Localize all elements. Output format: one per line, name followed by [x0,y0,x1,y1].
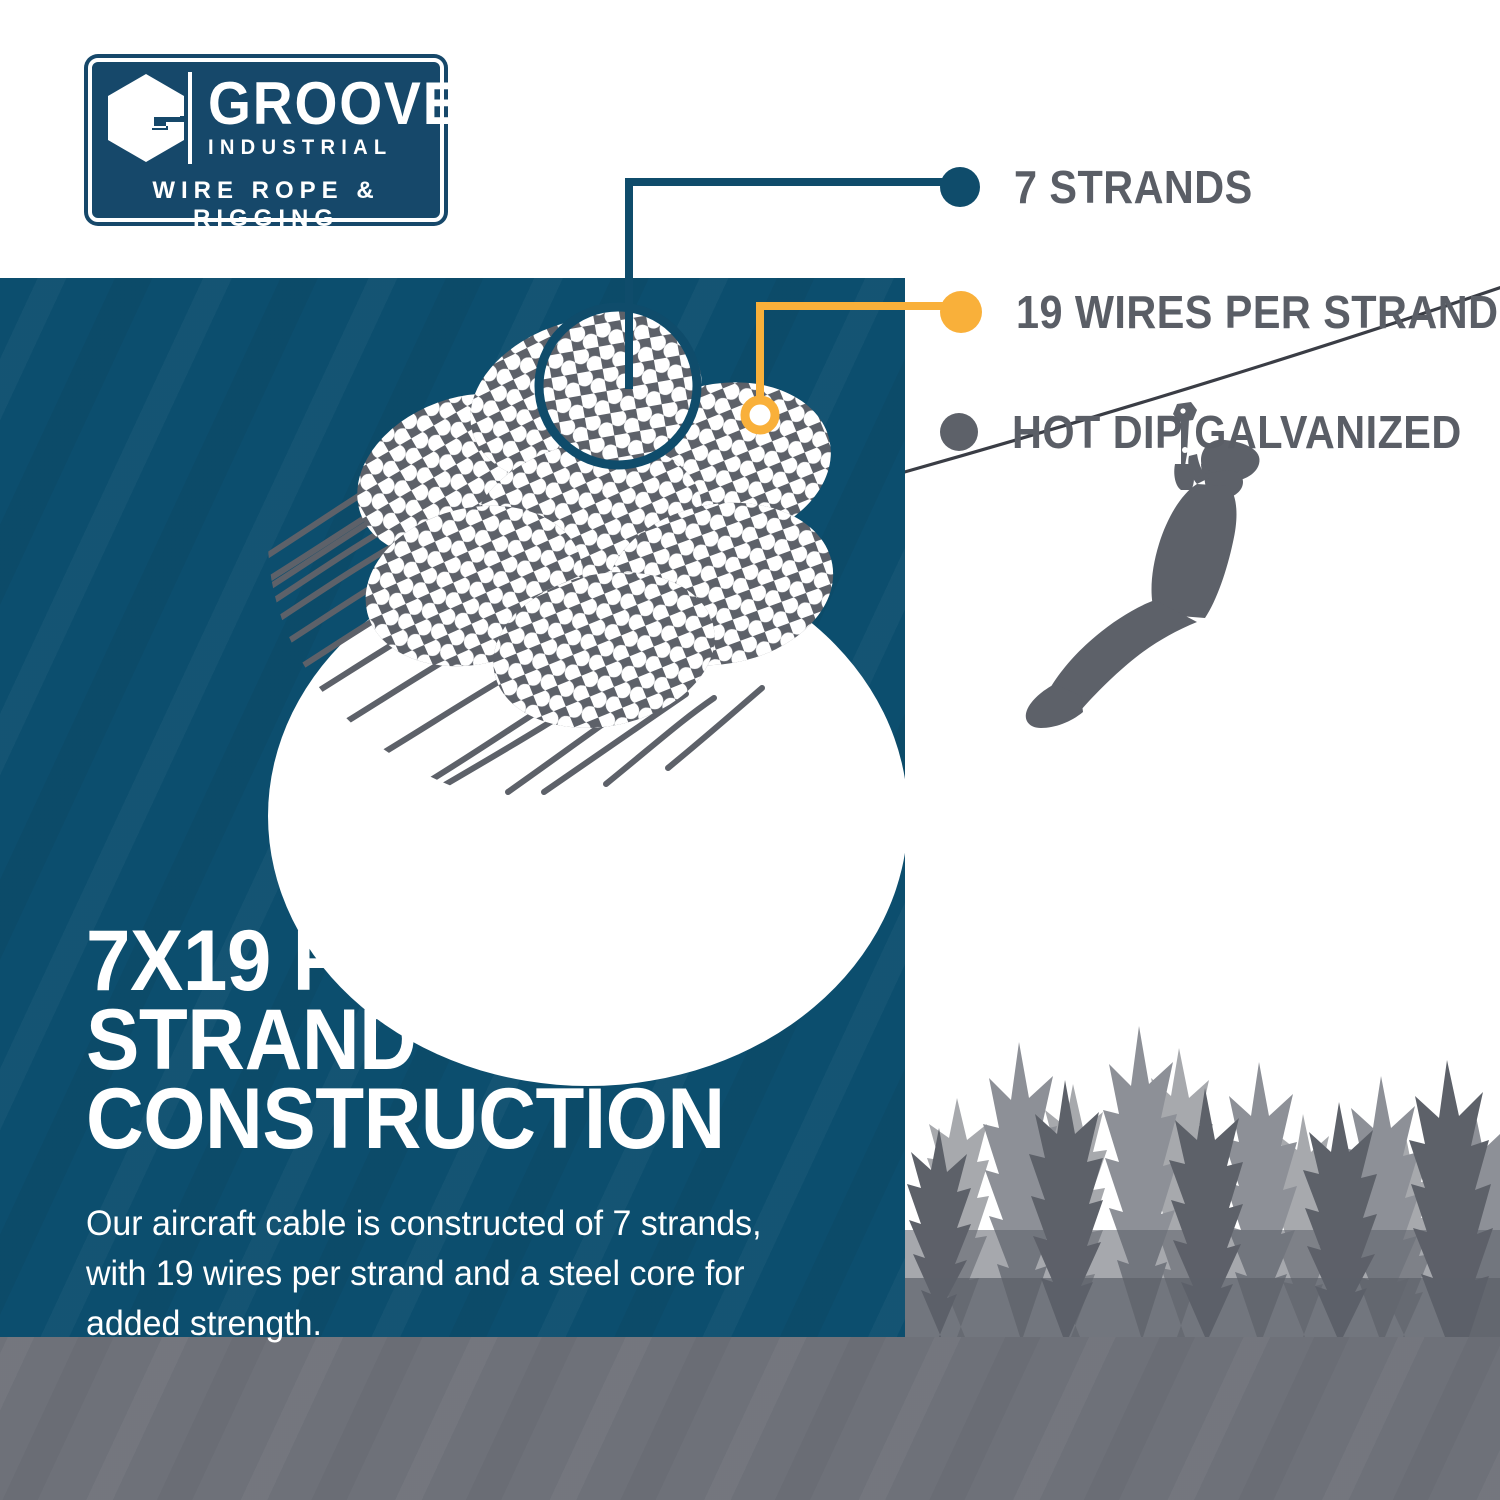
infographic-canvas: 7 STRANDS 19 WIRES PER STRAND HOT DIP GA… [0,0,1500,1500]
callout-strands: 7 STRANDS [940,160,1279,214]
page-title: 7X19 FLEXIBLE STRAND CONSTRUCTION [86,922,821,1159]
callout-galvanized: HOT DIP GALVANIZED [940,405,1500,459]
wire-anchor-ring-icon [745,400,775,430]
bottom-grey-band [0,1337,1500,1500]
headline-line-2: STRAND CONSTRUCTION [86,1001,821,1159]
callout-dot-galvanized-icon [940,413,978,451]
callout-label-galvanized: HOT DIP GALVANIZED [1012,405,1462,459]
leader-line-strands [629,182,960,385]
callout-label-wires: 19 WIRES PER STRAND [1016,285,1498,339]
callout-dot-wires-icon [940,291,982,333]
callout-label-strands: 7 STRANDS [1014,160,1253,214]
headline-body-text: Our aircraft cable is constructed of 7 s… [86,1199,765,1348]
callout-wires-per-strand: 19 WIRES PER STRAND [940,285,1500,339]
headline-block: 7X19 FLEXIBLE STRAND CONSTRUCTION Our ai… [86,922,876,1348]
callout-dot-strands-icon [940,167,980,207]
leader-line-wires [760,306,960,402]
band-stripe-texture [0,1337,1500,1500]
